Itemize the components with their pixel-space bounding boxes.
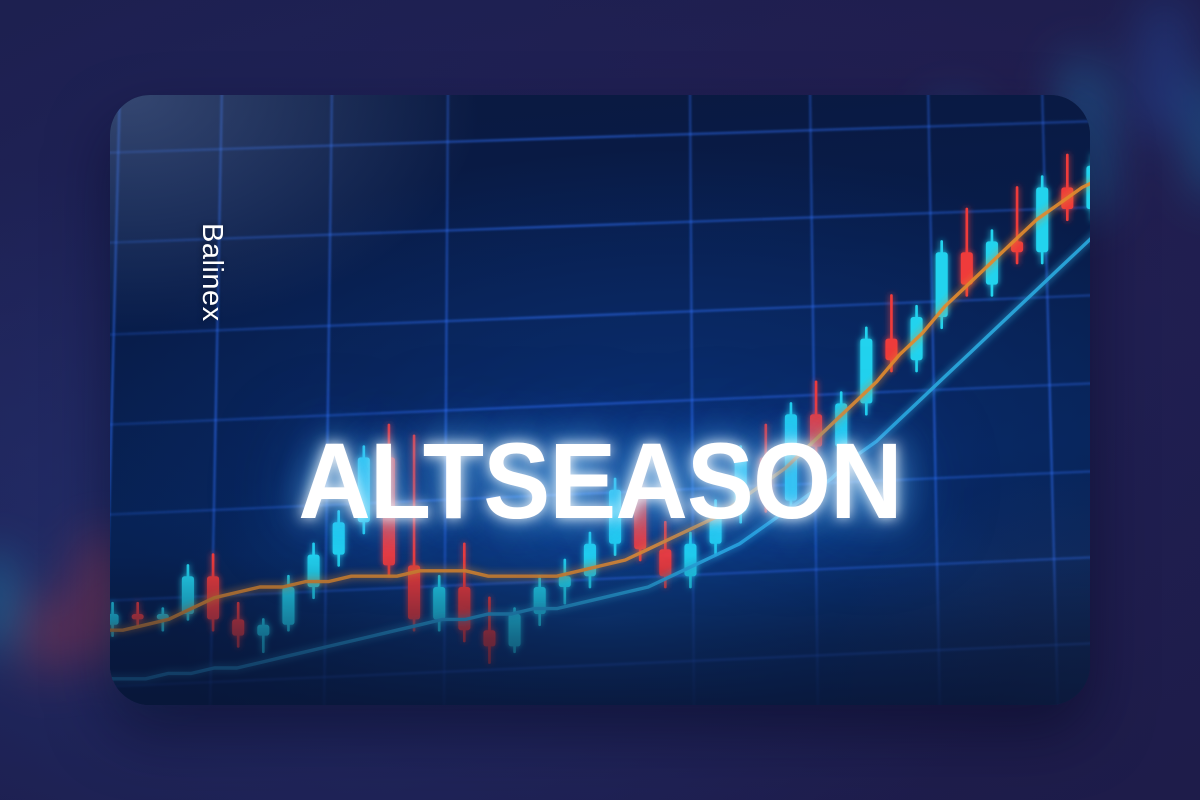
card-inner: Balinex ALTSEASON bbox=[110, 95, 1090, 705]
page-title: ALTSEASON bbox=[144, 427, 1055, 535]
altseason-card[interactable]: Balinex ALTSEASON bbox=[110, 95, 1090, 705]
brand-label: Balinex bbox=[195, 223, 228, 322]
screenshot-root: Balinex ALTSEASON bbox=[0, 0, 1200, 800]
candlestick-chart bbox=[110, 95, 1090, 705]
